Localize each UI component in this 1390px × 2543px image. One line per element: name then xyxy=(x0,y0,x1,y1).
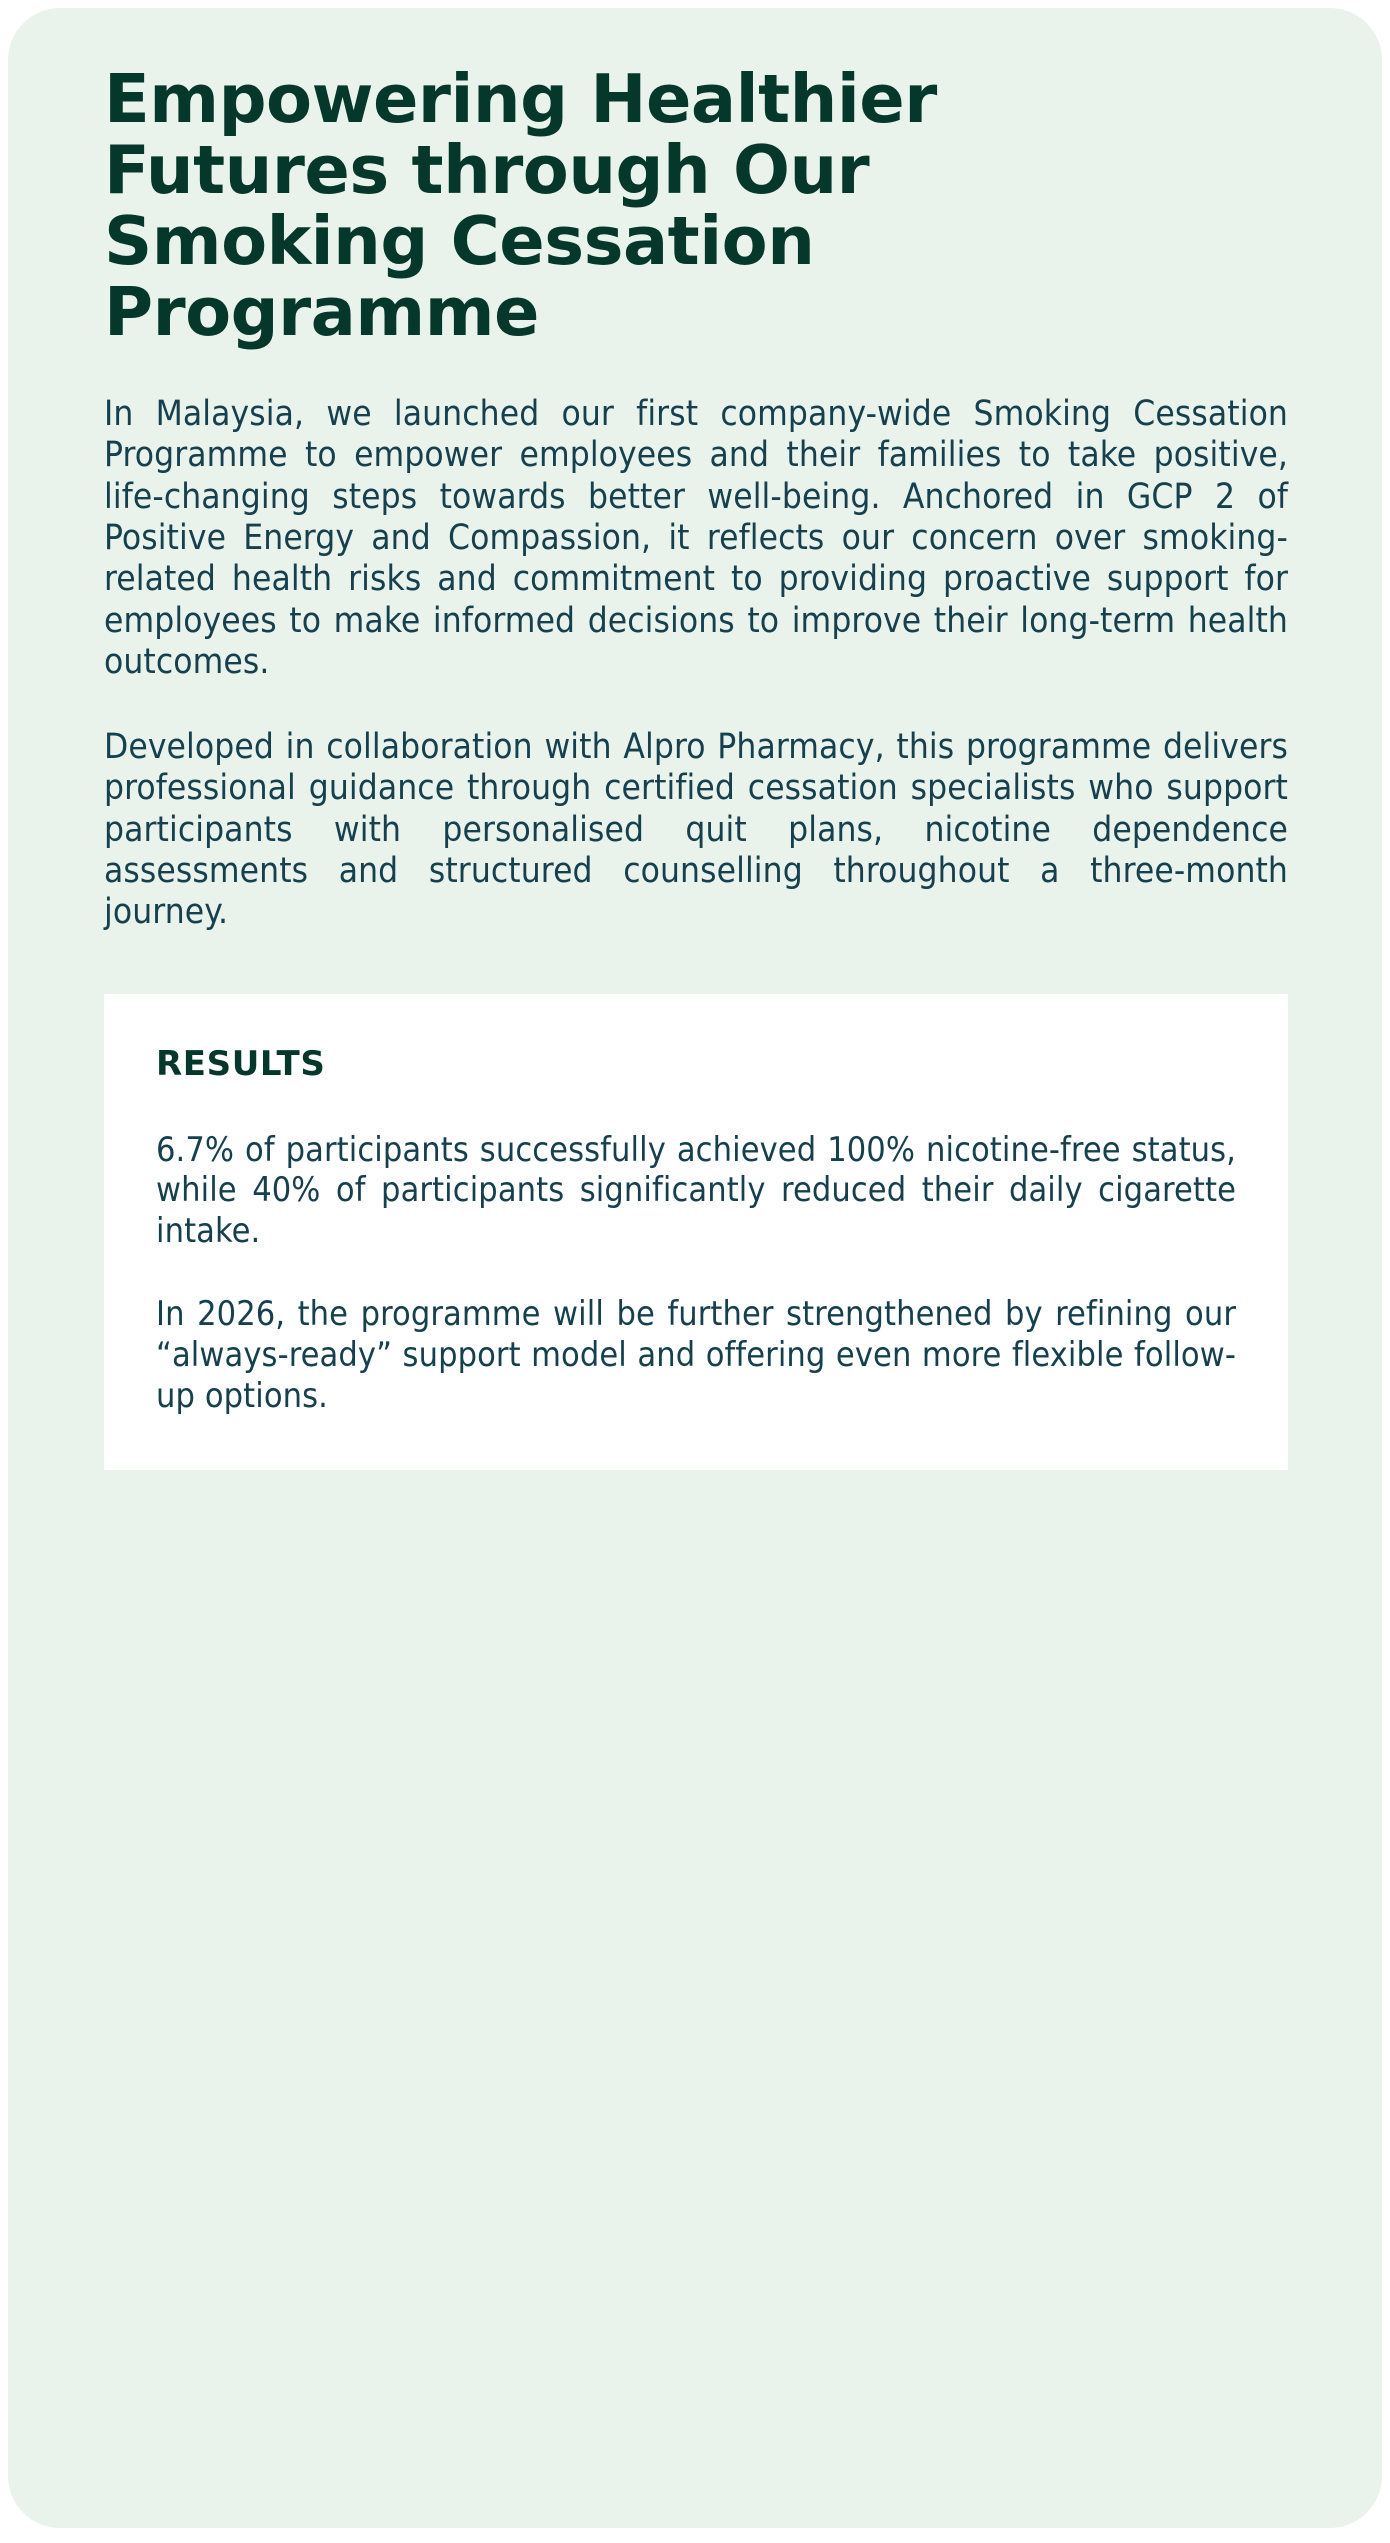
results-card: RESULTS 6.7% of participants successfull… xyxy=(104,994,1288,1471)
results-paragraph-1: 6.7% of participants successfully achiev… xyxy=(156,1130,1236,1252)
intro-paragraph-2: Developed in collaboration with Alpro Ph… xyxy=(104,727,1288,933)
results-paragraph-2: In 2026, the programme will be further s… xyxy=(156,1294,1236,1416)
feature-panel: Empowering Healthier Futures through Our… xyxy=(8,8,1382,2528)
feature-panel-inner: Empowering Healthier Futures through Our… xyxy=(104,64,1288,1470)
intro-paragraph-1: In Malaysia, we launched our first compa… xyxy=(104,394,1288,683)
results-heading: RESULTS xyxy=(156,1044,1236,1084)
intro-paragraphs: In Malaysia, we launched our first compa… xyxy=(104,394,1288,934)
page-root: Empowering Healthier Futures through Our… xyxy=(0,0,1390,2543)
page-title: Empowering Healthier Futures through Our… xyxy=(104,64,1084,348)
